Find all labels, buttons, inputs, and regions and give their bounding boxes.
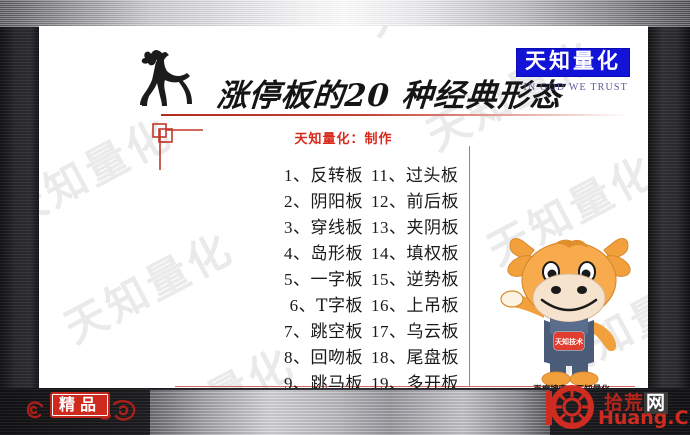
pattern-item-name: T字板 — [316, 296, 363, 316]
pattern-item-name: 上吊板 — [407, 296, 460, 316]
pattern-list-item: 14、填权板 — [371, 242, 459, 266]
brand-logo-box: 天知量化 — [516, 48, 630, 77]
pattern-item-name: 岛形板 — [311, 244, 364, 264]
pattern-item-number: 9、 — [284, 374, 311, 388]
pattern-item-name: 尾盘板 — [407, 348, 460, 368]
pattern-item-name: 逆势板 — [407, 270, 460, 290]
pattern-item-number: 12、 — [371, 192, 407, 211]
pattern-item-number: 7、 — [284, 322, 311, 341]
pattern-item-name: 填权板 — [407, 244, 460, 264]
pattern-item-number: 4、 — [284, 244, 311, 263]
pattern-item-number: 18、 — [371, 348, 407, 367]
slide-content: 天知量化天知量化 天知量化天知量化 天知量化天知量化 天知量化天知量化 涨停板的… — [39, 26, 648, 388]
pattern-item-number: 5、 — [284, 270, 311, 289]
pattern-item-number: 16、 — [371, 296, 407, 315]
pattern-list-item: 15、逆势板 — [371, 268, 459, 292]
pattern-item-name: 夹阴板 — [407, 218, 460, 238]
pattern-item-name: 阴阳板 — [311, 192, 364, 212]
subtitle: 天知量化：制作 — [39, 128, 648, 147]
pattern-list-item: 19、多开板 — [371, 372, 459, 388]
brand-logo-text: 天知量化 — [525, 51, 621, 72]
rearing-horse-icon — [131, 49, 203, 111]
pattern-list-item: 16、上吊板 — [371, 294, 459, 318]
pattern-list-item: 6、T字板 — [290, 294, 363, 318]
pattern-list-item: 5、一字板 — [284, 268, 363, 292]
quality-seal: 精品 — [22, 386, 152, 432]
pattern-list-item: 13、夹阴板 — [371, 216, 459, 240]
brand-logo-tagline: IN GOD WE TRUST — [523, 82, 628, 93]
pattern-item-number: 6、 — [290, 296, 317, 315]
frame-border-bottom — [150, 390, 550, 435]
pattern-list-item: 9、跳马板 — [284, 372, 363, 388]
pattern-item-name: 前后板 — [407, 192, 460, 212]
pattern-list-item: 4、岛形板 — [284, 242, 363, 266]
pattern-item-name: 回吻板 — [311, 348, 364, 368]
brand-en-text: Huang.CN — [598, 407, 690, 429]
seal-text: 精品 — [59, 396, 101, 414]
pattern-item-number: 17、 — [371, 322, 407, 341]
pattern-item-name: 反转板 — [311, 166, 364, 186]
frame-border-left — [0, 0, 39, 435]
pattern-list-item: 12、前后板 — [371, 190, 459, 214]
seal-box: 精品 — [50, 392, 110, 418]
pattern-item-name: 一字板 — [311, 270, 364, 290]
pattern-list-item: 8、回吻板 — [284, 346, 363, 370]
mascot-badge-text: 天知技术 — [555, 337, 583, 346]
title-underline — [161, 114, 629, 116]
pattern-list-item: 1、反转板 — [284, 164, 363, 188]
pattern-item-name: 跳马板 — [311, 374, 364, 388]
pattern-list-item: 7、跳空板 — [284, 320, 363, 344]
pattern-item-number: 13、 — [371, 218, 407, 237]
site-brand: 拾荒网 Huang.CN — [542, 385, 682, 433]
watermark-text: 天知量化 — [353, 26, 544, 48]
pattern-list-item: 2、阴阳板 — [284, 190, 363, 214]
pattern-item-name: 跳空板 — [311, 322, 364, 342]
pattern-item-name: 穿线板 — [311, 218, 364, 238]
pattern-list-item: 18、尾盘板 — [371, 346, 459, 370]
pattern-item-number: 11、 — [371, 166, 406, 185]
pattern-list: 1、反转板2、阴阳板3、穿线板4、岛形板5、一字板6、T字板7、跳空板8、回吻板… — [207, 164, 527, 388]
slide-frame: 天知量化天知量化 天知量化天知量化 天知量化天知量化 天知量化天知量化 涨停板的… — [0, 0, 690, 435]
pattern-list-item: 3、穿线板 — [284, 216, 363, 240]
pattern-item-number: 1、 — [284, 166, 311, 185]
pattern-item-name: 多开板 — [407, 374, 460, 388]
pattern-item-name: 乌云板 — [407, 322, 460, 342]
pattern-item-number: 15、 — [371, 270, 407, 289]
frame-border-right — [648, 0, 690, 435]
cow-mascot: 天知技术 — [494, 222, 644, 387]
pattern-item-number: 19、 — [371, 374, 407, 388]
pattern-item-name: 过头板 — [406, 166, 459, 186]
pattern-item-number: 8、 — [284, 348, 311, 367]
pattern-list-item: 11、过头板 — [371, 164, 458, 188]
pattern-item-number: 14、 — [371, 244, 407, 263]
pattern-item-number: 2、 — [284, 192, 311, 211]
pattern-list-column-left: 1、反转板2、阴阳板3、穿线板4、岛形板5、一字板6、T字板7、跳空板8、回吻板… — [207, 164, 363, 388]
page-title: 涨停板的20 种经典形态 — [215, 70, 563, 115]
brand-gear-icon — [542, 385, 606, 433]
pattern-list-item: 17、乌云板 — [371, 320, 459, 344]
pattern-item-number: 3、 — [284, 218, 311, 237]
frame-border-top — [0, 0, 690, 27]
